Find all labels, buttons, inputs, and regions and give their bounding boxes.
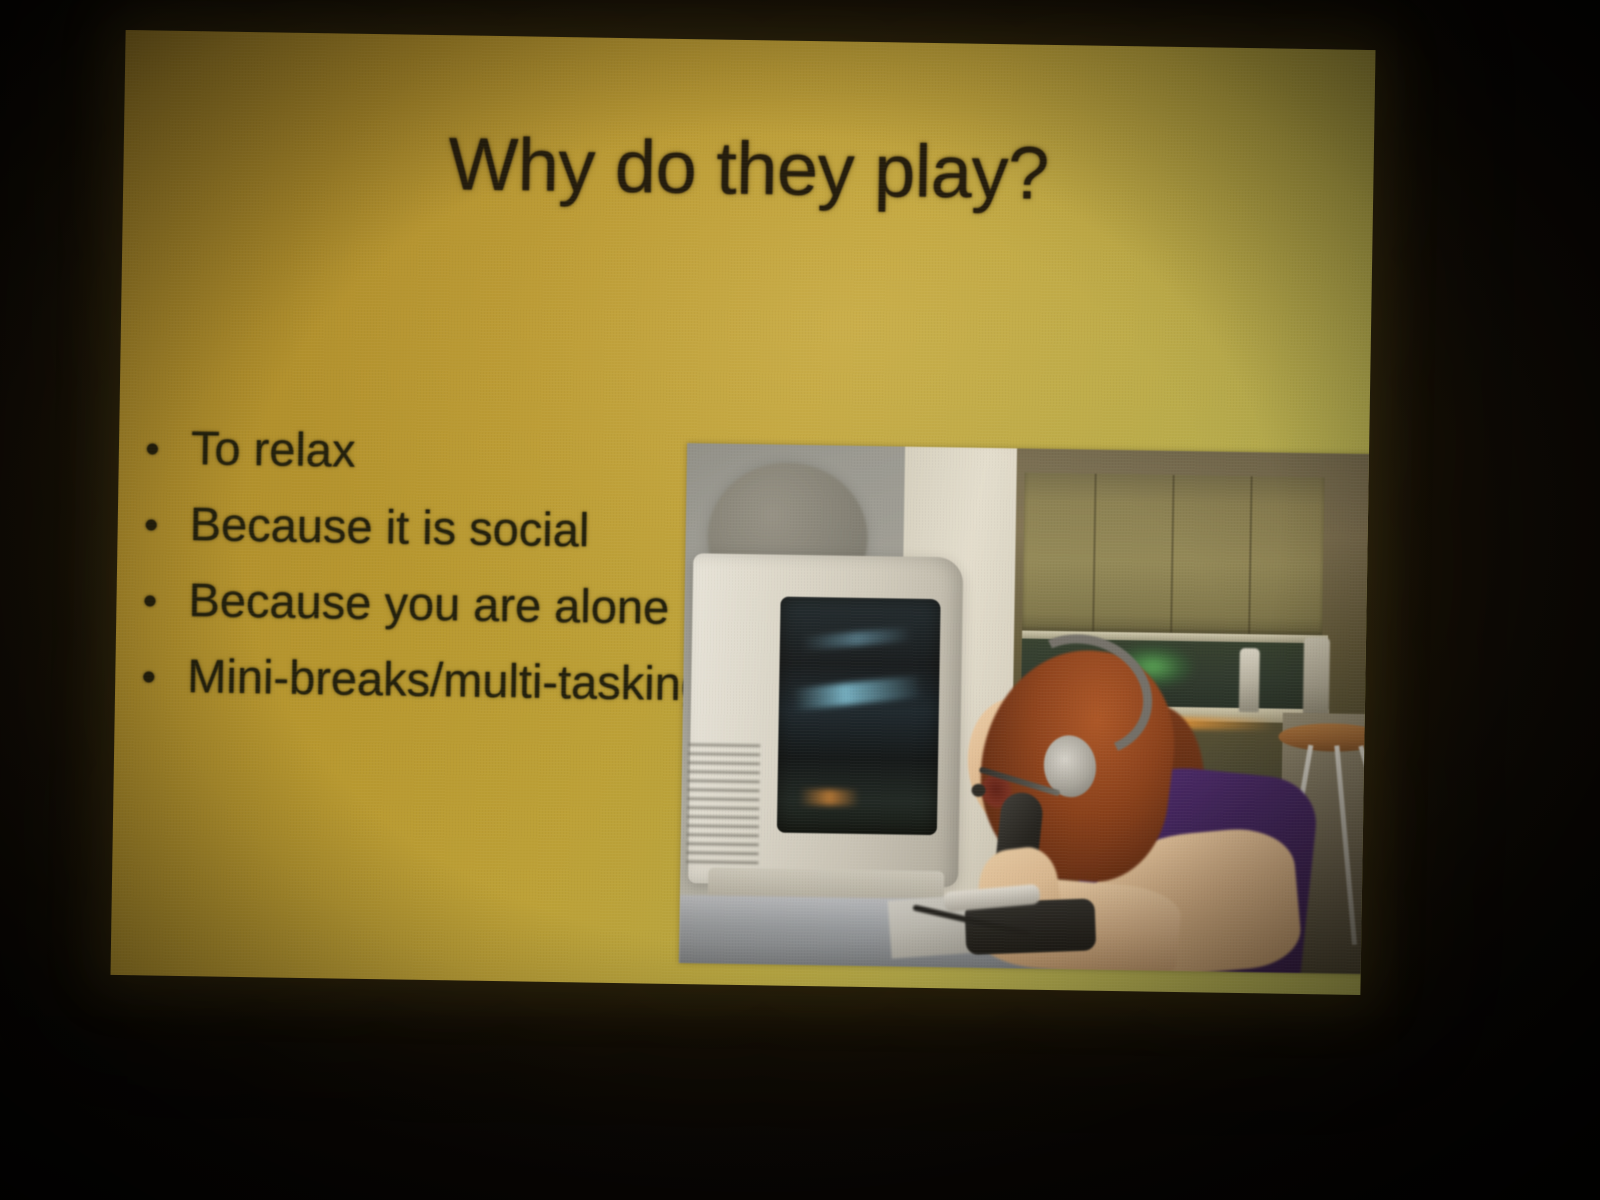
bullet-text: Because you are alone: [188, 573, 670, 634]
bullet-dot-icon: [146, 519, 157, 530]
bullet-dot-icon: [144, 595, 155, 606]
photo-bottle: [1239, 648, 1260, 712]
photo-bottle: [1303, 637, 1330, 717]
photo-kitchen-cabinets: [1022, 473, 1325, 638]
photo-game-highlight: [799, 789, 859, 806]
slide-title: Why do they play?: [123, 116, 1374, 221]
bullet-text: Mini-breaks/multi-tasking: [187, 649, 708, 710]
bullet-dot-icon: [147, 443, 158, 454]
projected-slide-wrapper: Why do they play? To relax Because it is…: [110, 30, 1375, 995]
bullet-dot-icon: [143, 671, 154, 682]
bullet-text: To relax: [191, 421, 356, 477]
photo-monitor-vent: [686, 743, 760, 864]
bullet-text: Because it is social: [189, 497, 589, 556]
projection-room: Why do they play? To relax Because it is…: [0, 0, 1600, 1200]
presentation-slide: Why do they play? To relax Because it is…: [110, 30, 1375, 995]
photo-headset-mic-tip: [971, 784, 985, 797]
slide-photo: [679, 443, 1376, 974]
